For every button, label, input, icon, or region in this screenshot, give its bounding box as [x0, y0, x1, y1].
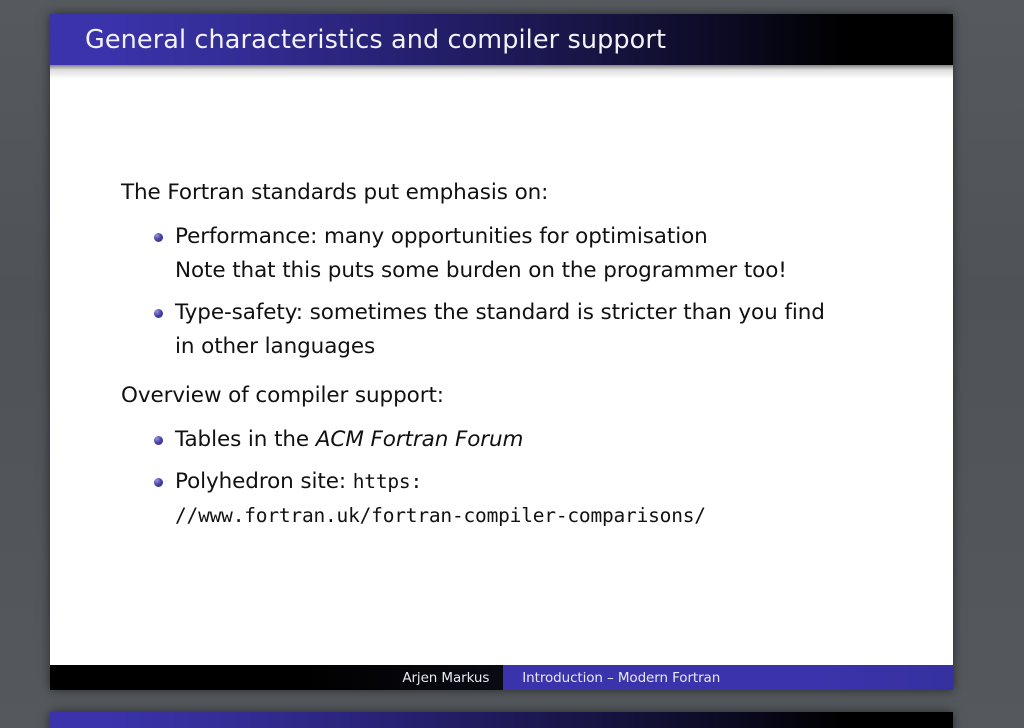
list-item: Type-safety: sometimes the standard is s… [121, 296, 913, 364]
list-item: Tables in the ACM Fortran Forum [121, 423, 913, 457]
footer-author: Arjen Markus [402, 670, 489, 686]
bullet-text-prefix: Tables in the [175, 427, 316, 452]
next-slide-title-bar [50, 712, 953, 728]
slide-content: The Fortran standards put emphasis on: P… [121, 177, 913, 541]
lead-text-overview: Overview of compiler support: [121, 380, 913, 411]
slide-title: General characteristics and compiler sup… [85, 25, 666, 55]
slide-title-bar: General characteristics and compiler sup… [50, 14, 953, 65]
slide-page-next[interactable] [50, 712, 953, 728]
bullet-list-overview: Tables in the ACM Fortran Forum Polyhedr… [121, 423, 913, 533]
title-bar-shadow [50, 65, 953, 79]
footer-author-section: Arjen Markus [50, 665, 503, 690]
bullet-line-1: Type-safety: sometimes the standard is s… [175, 300, 825, 325]
bullet-marker-icon [154, 436, 163, 445]
bullet-text-prefix: Polyhedron site: [175, 469, 353, 494]
bullet-marker-icon [154, 233, 163, 242]
slide-footer: Arjen Markus Introduction – Modern Fortr… [50, 665, 953, 690]
bullet-line-1: Performance: many opportunities for opti… [175, 224, 708, 249]
footer-talk-title: Introduction – Modern Fortran [522, 670, 720, 686]
bullet-list-emphasis: Performance: many opportunities for opti… [121, 220, 913, 364]
bullet-marker-icon [154, 478, 163, 487]
bullet-marker-icon [154, 309, 163, 318]
slide-body: The Fortran standards put emphasis on: P… [50, 79, 953, 639]
bullet-text-italic: ACM Fortran Forum [316, 427, 524, 452]
footer-title-section: Introduction – Modern Fortran [503, 665, 953, 690]
url-text-part-2[interactable]: //www.fortran.uk/fortran-compiler-compar… [175, 499, 913, 533]
bullet-line-2: Note that this puts some burden on the p… [175, 254, 913, 288]
url-text-part-1[interactable]: https: [353, 470, 422, 493]
list-item: Performance: many opportunities for opti… [121, 220, 913, 288]
lead-text-emphasis: The Fortran standards put emphasis on: [121, 177, 913, 208]
slide-page-current[interactable]: General characteristics and compiler sup… [50, 14, 953, 690]
list-item: Polyhedron site: https: //www.fortran.uk… [121, 465, 913, 533]
pdf-viewer-canvas[interactable]: General characteristics and compiler sup… [0, 0, 1024, 728]
bullet-line-2: in other languages [175, 330, 913, 364]
